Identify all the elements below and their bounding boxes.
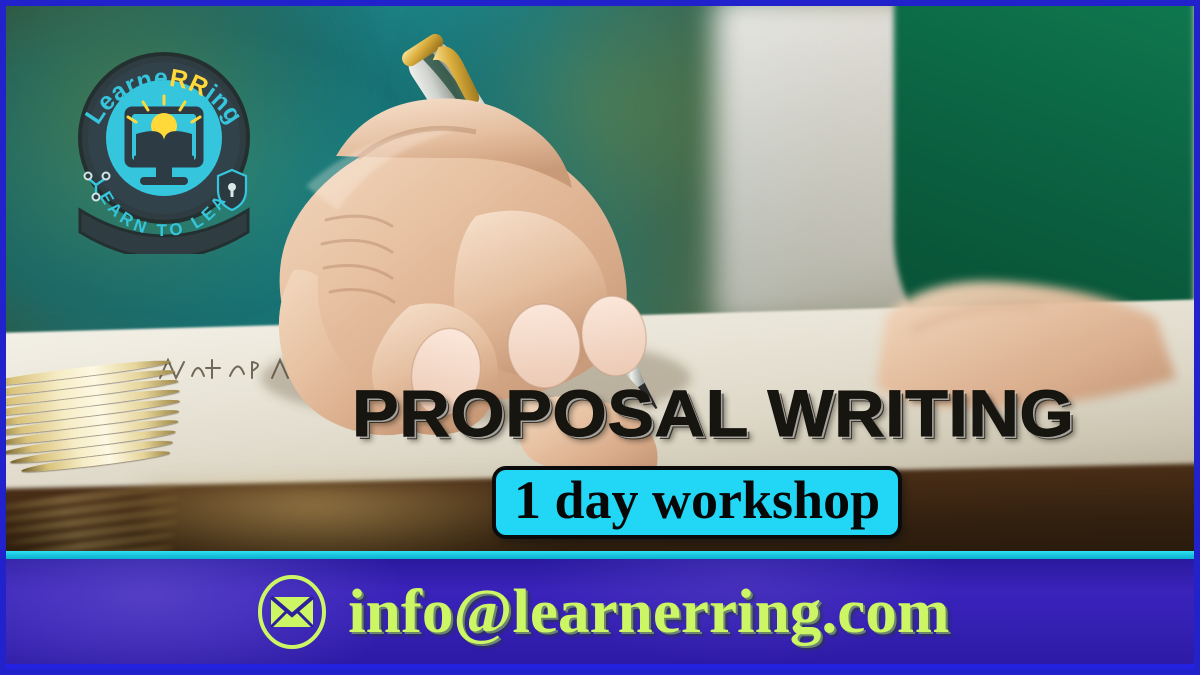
contact-email[interactable]: info@learnerring.com xyxy=(348,581,949,643)
workshop-duration-badge: 1 day workshop xyxy=(492,466,902,539)
workshop-duration-label: 1 day workshop xyxy=(514,472,880,529)
contact-footer: info@learnerring.com xyxy=(6,559,1194,669)
cyan-divider xyxy=(6,551,1194,559)
brand-logo: LEARN TO LEAD LearneRRing xyxy=(68,42,260,254)
banner-title: PROPOSAL WRITING xyxy=(352,380,1194,446)
promo-banner: LEARN TO LEAD LearneRRing PROPOSAL WRITI… xyxy=(0,0,1200,675)
envelope-icon xyxy=(256,574,328,650)
banner-inner-frame: LEARN TO LEAD LearneRRing PROPOSAL WRITI… xyxy=(6,6,1194,669)
